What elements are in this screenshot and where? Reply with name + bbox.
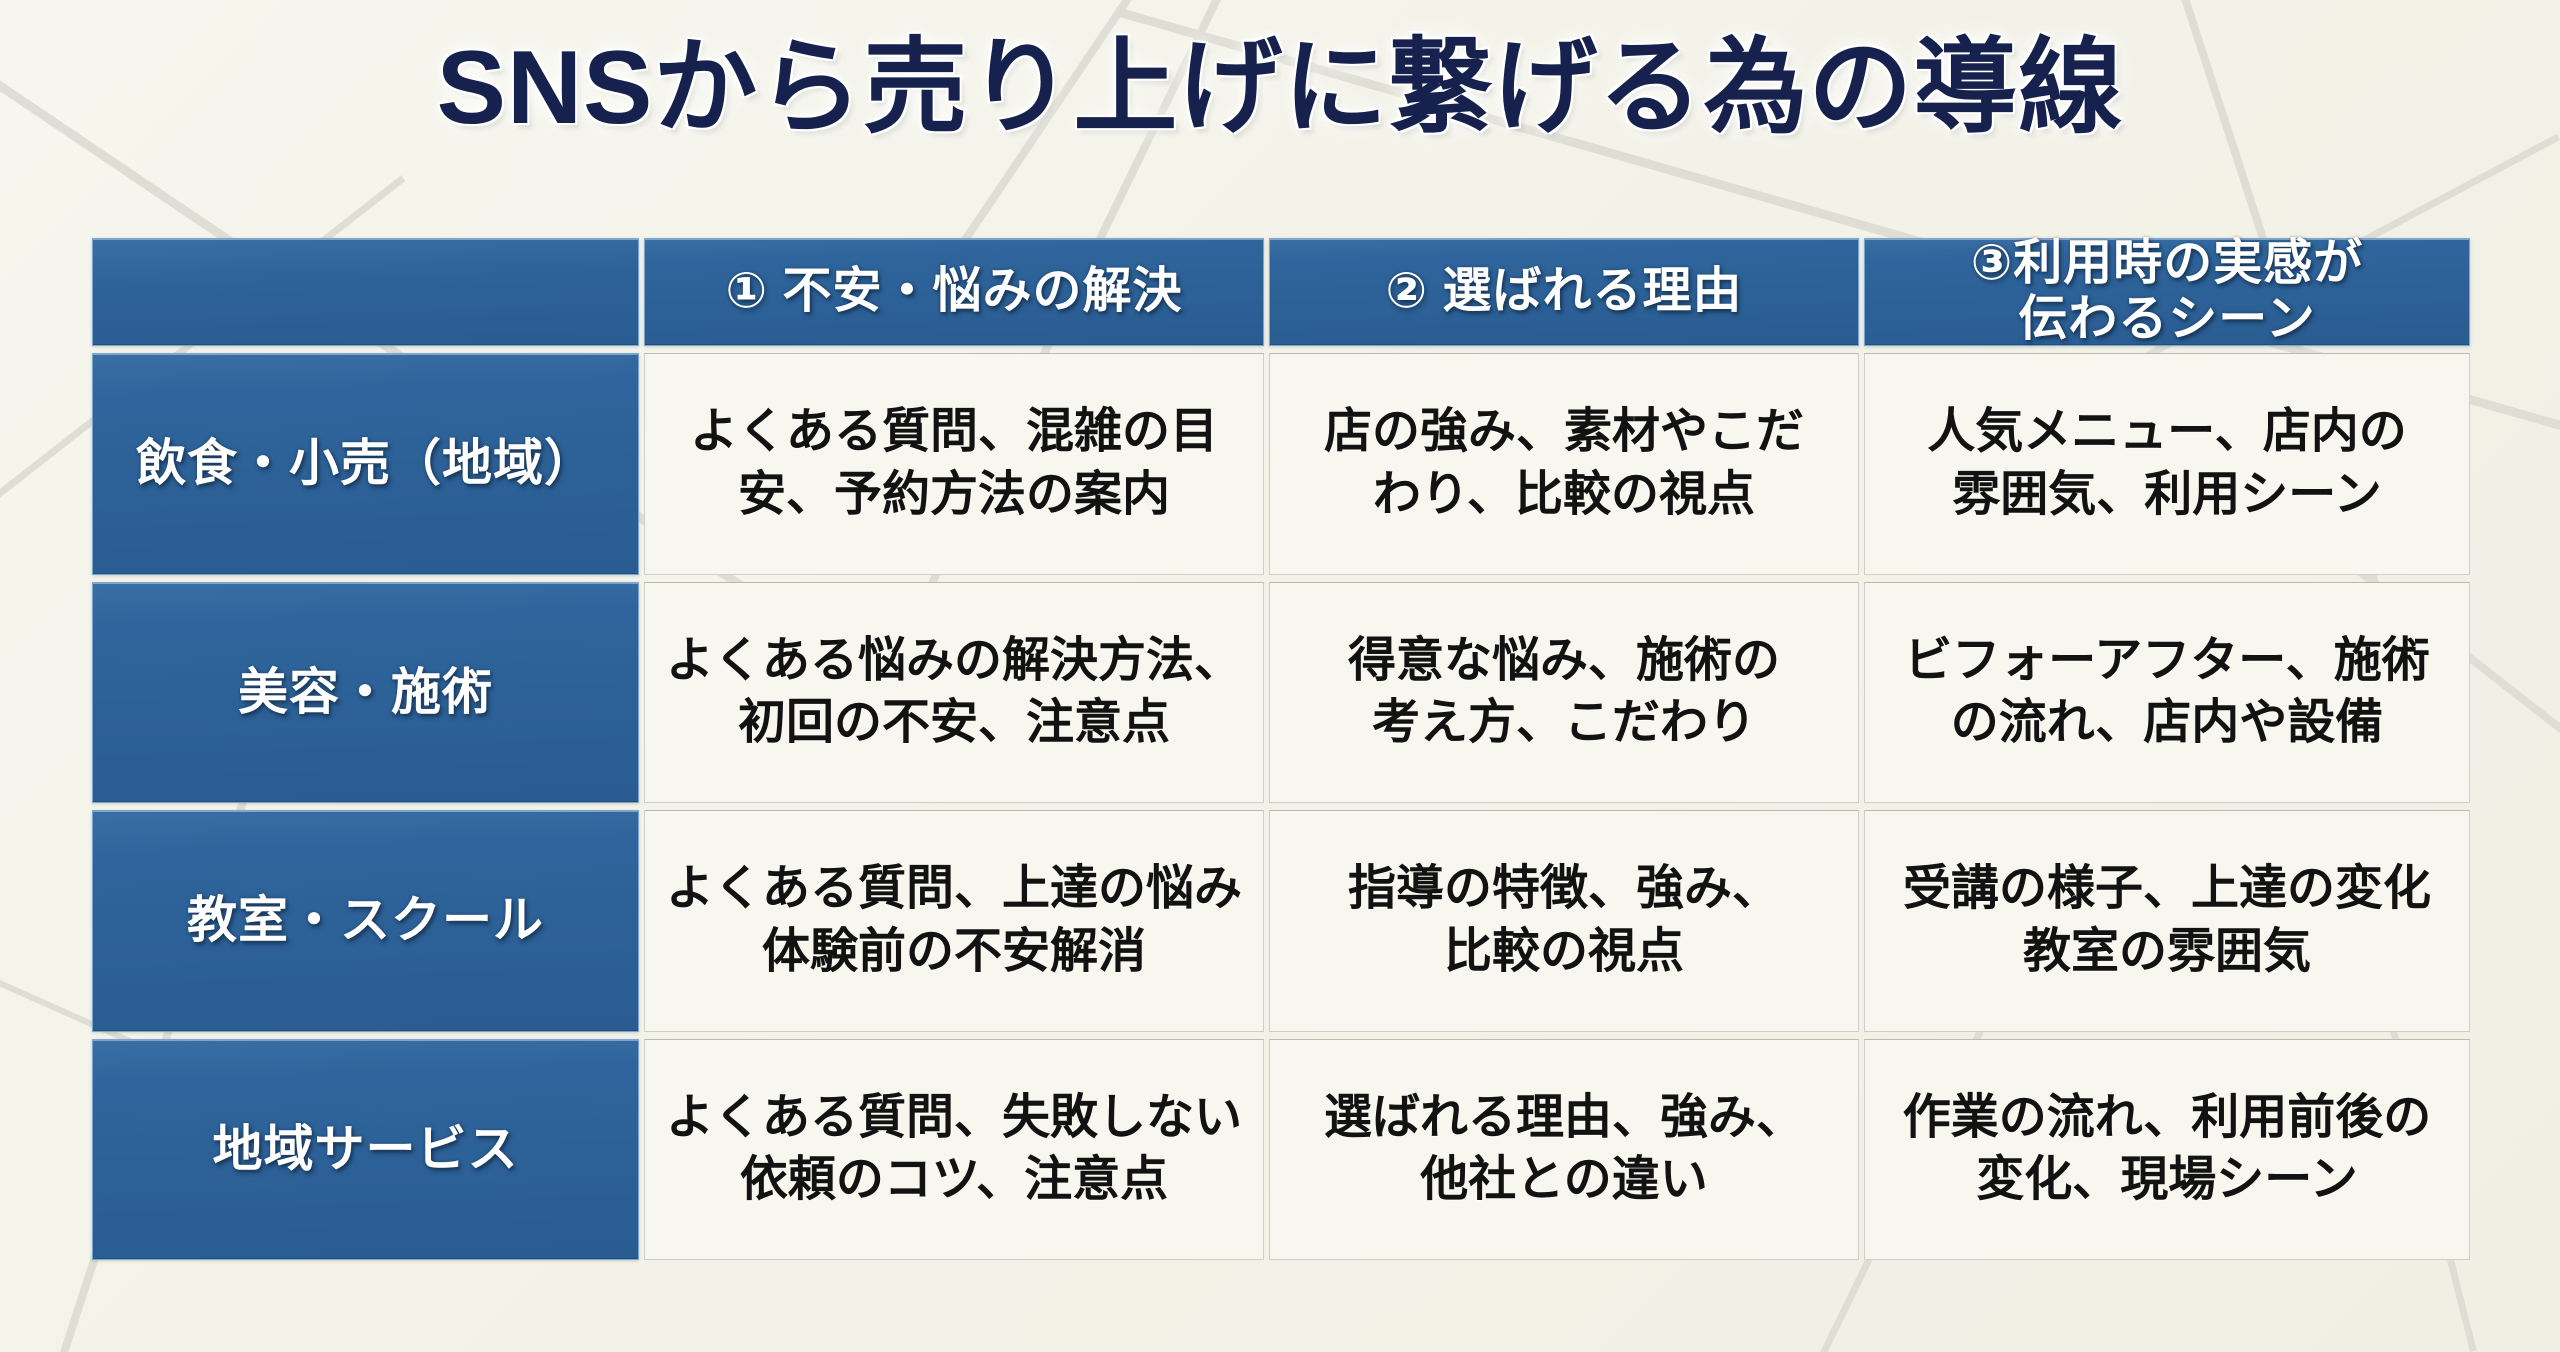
table-row: 美容・施術 よくある悩みの解決方法、 初回の不安、注意点 得意な悩み、施術の 考… (92, 582, 2470, 804)
table-cell-text: よくある質問、混雑の目 安、予約方法の案内 (690, 401, 1218, 526)
page-title-container: SNSから売り上げに繋げる為の導線 (0, 34, 2560, 143)
table-cell: 選ばれる理由、強み、 他社との違い (1269, 1039, 1859, 1261)
row-label: 美容・施術 (238, 662, 493, 723)
row-label-cell: 地域サービス (92, 1039, 639, 1261)
table-row: 地域サービス よくある質問、失敗しない 依頼のコツ、注意点 選ばれる理由、強み、… (92, 1039, 2470, 1261)
table-cell: 指導の特徴、強み、 比較の視点 (1269, 810, 1859, 1032)
column-header-1: ① 不安・悩みの解決 (644, 238, 1264, 346)
table-cell-text: 得意な悩み、施術の 考え方、こだわり (1348, 630, 1780, 755)
table-cell: よくある悩みの解決方法、 初回の不安、注意点 (644, 582, 1264, 804)
table-cell-text: 作業の流れ、利用前後の 変化、現場シーン (1903, 1087, 2431, 1212)
table-cell: 人気メニュー、店内の 雰囲気、利用シーン (1864, 353, 2470, 575)
row-label-cell: 美容・施術 (92, 582, 639, 804)
table-row: 飲食・小売（地域） よくある質問、混雑の目 安、予約方法の案内 店の強み、素材や… (92, 353, 2470, 575)
column-header-1-label: ① 不安・悩みの解決 (725, 264, 1182, 320)
table-cell-text: よくある悩みの解決方法、 初回の不安、注意点 (666, 630, 1242, 755)
row-label-cell: 教室・スクール (92, 810, 639, 1032)
column-header-3-label: ③利用時の実感が 伝わるシーン (1971, 236, 2364, 348)
row-label: 飲食・小売（地域） (136, 433, 595, 494)
table-cell: 得意な悩み、施術の 考え方、こだわり (1269, 582, 1859, 804)
table-row: 教室・スクール よくある質問、上達の悩み 体験前の不安解消 指導の特徴、強み、 … (92, 810, 2470, 1032)
table-cell-text: ビフォーアフター、施術 の流れ、店内や設備 (1904, 630, 2430, 755)
table-cell-text: 指導の特徴、強み、 比較の視点 (1348, 858, 1780, 983)
table-cell: よくある質問、上達の悩み 体験前の不安解消 (644, 810, 1264, 1032)
column-header-2-label: ② 選ばれる理由 (1385, 264, 1742, 320)
table-cell: よくある質問、失敗しない 依頼のコツ、注意点 (644, 1039, 1264, 1261)
table-cell: 受講の様子、上達の変化 教室の雰囲気 (1864, 810, 2470, 1032)
row-label-cell: 飲食・小売（地域） (92, 353, 639, 575)
page-title: SNSから売り上げに繋げる為の導線 (437, 34, 2124, 143)
table-cell-text: よくある質問、失敗しない 依頼のコツ、注意点 (666, 1087, 1242, 1212)
table-cell: ビフォーアフター、施術 の流れ、店内や設備 (1864, 582, 2470, 804)
table-header-row: ① 不安・悩みの解決 ② 選ばれる理由 ③利用時の実感が 伝わるシーン (92, 238, 2470, 346)
column-header-3: ③利用時の実感が 伝わるシーン (1864, 238, 2470, 346)
table-cell-text: 店の強み、素材やこだ わり、比較の視点 (1324, 401, 1804, 526)
table-cell: 作業の流れ、利用前後の 変化、現場シーン (1864, 1039, 2470, 1261)
table-cell-text: よくある質問、上達の悩み 体験前の不安解消 (666, 858, 1242, 983)
table-cell: 店の強み、素材やこだ わり、比較の視点 (1269, 353, 1859, 575)
table-cell-text: 受講の様子、上達の変化 教室の雰囲気 (1903, 858, 2431, 983)
column-header-2: ② 選ばれる理由 (1269, 238, 1859, 346)
table-cell: よくある質問、混雑の目 安、予約方法の案内 (644, 353, 1264, 575)
row-label: 地域サービス (213, 1119, 519, 1180)
table-cell-text: 選ばれる理由、強み、 他社との違い (1324, 1087, 1804, 1212)
table-cell-text: 人気メニュー、店内の 雰囲気、利用シーン (1927, 401, 2407, 526)
row-label: 教室・スクール (187, 890, 544, 951)
table-corner-cell (92, 238, 639, 346)
content-matrix-table: ① 不安・悩みの解決 ② 選ばれる理由 ③利用時の実感が 伝わるシーン 飲食・小… (92, 238, 2470, 1260)
